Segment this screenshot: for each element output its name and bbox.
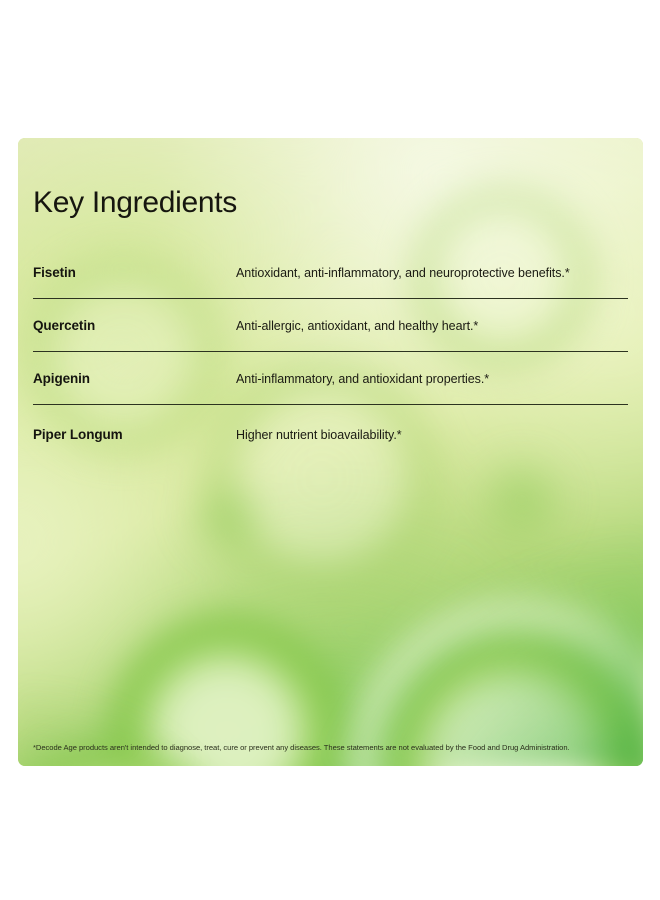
- card-content: Key Ingredients Fisetin Antioxidant, ant…: [18, 138, 643, 766]
- ingredient-name: Fisetin: [33, 265, 236, 282]
- disclaimer-text: *Decode Age products aren't intended to …: [33, 743, 631, 752]
- ingredient-name: Quercetin: [33, 318, 236, 335]
- ingredient-description: Anti-inflammatory, and antioxidant prope…: [236, 371, 628, 387]
- ingredient-name: Apigenin: [33, 371, 236, 388]
- ingredient-name: Piper Longum: [33, 427, 236, 444]
- page-title: Key Ingredients: [33, 188, 237, 218]
- ingredient-description: Antioxidant, anti-inflammatory, and neur…: [236, 265, 628, 281]
- ingredient-description: Higher nutrient bioavailability.*: [236, 427, 628, 443]
- table-row: Fisetin Antioxidant, anti-inflammatory, …: [33, 263, 628, 299]
- ingredients-table: Fisetin Antioxidant, anti-inflammatory, …: [33, 263, 628, 444]
- table-row: Quercetin Anti-allergic, antioxidant, an…: [33, 299, 628, 352]
- key-ingredients-card: Key Ingredients Fisetin Antioxidant, ant…: [18, 138, 643, 766]
- ingredient-description: Anti-allergic, antioxidant, and healthy …: [236, 318, 628, 334]
- table-row: Piper Longum Higher nutrient bioavailabi…: [33, 405, 628, 444]
- table-row: Apigenin Anti-inflammatory, and antioxid…: [33, 352, 628, 405]
